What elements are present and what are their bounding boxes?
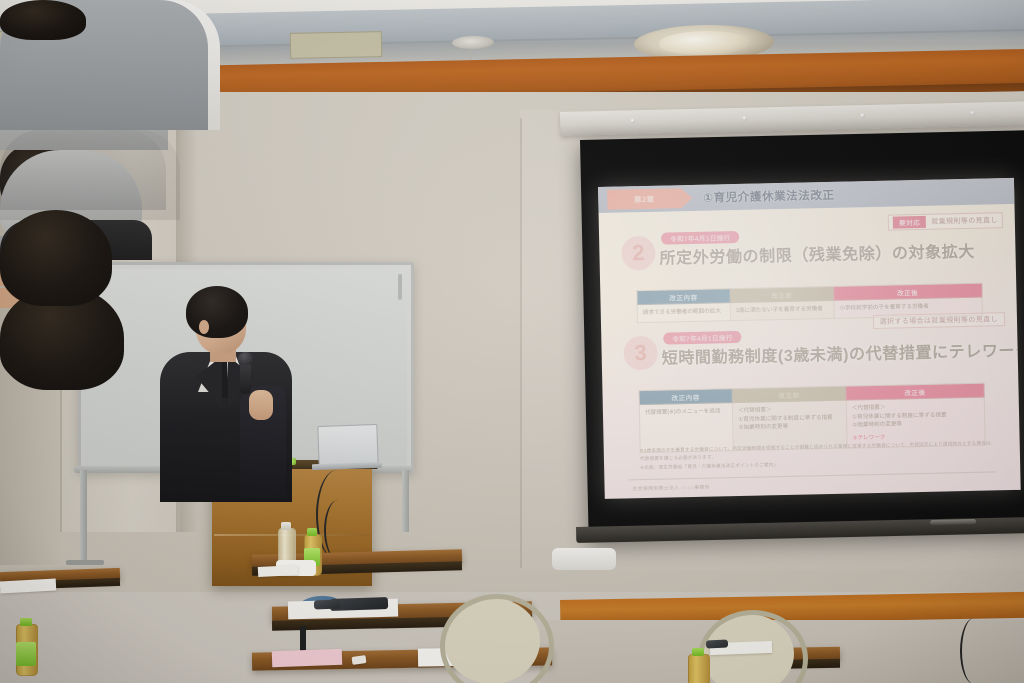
bottle-cap: [281, 522, 291, 530]
wall-cable: [960, 618, 988, 683]
attendee-partial: [0, 0, 86, 40]
attendee-shoulder: [0, 130, 166, 210]
smartphone: [314, 600, 340, 610]
handout-paper: [258, 565, 298, 577]
bottle-cap: [20, 618, 32, 626]
section-number-badge: 3: [623, 336, 658, 371]
power-cable: [324, 500, 352, 560]
attendee-hair: [0, 0, 86, 40]
smartphone: [706, 639, 728, 648]
slide-section-2: 要対応 就業規則等の見直し 2 令和7年4月1日施行 所定外労働の制限（残業免除…: [599, 210, 1016, 279]
whiteboard-leg-right: [402, 470, 409, 532]
slide-section-3: 選択する場合は就業規則等の見直し 3 令和7年4月1日施行 短時間勤務制度(3歳…: [601, 310, 1018, 379]
presenter-hand: [249, 390, 273, 420]
tea-bottle: [688, 654, 710, 683]
attendee-collar: [552, 548, 616, 570]
whiteboard-marker-holder: [398, 274, 402, 300]
section-number-badge: 2: [621, 236, 656, 271]
microphone-icon: [238, 352, 253, 365]
seminar-room-photo: 第2章 ①育児介護休業法法改正 要対応 就業規則等の見直し 2 令和7年4月1日…: [0, 0, 1024, 683]
slide-footer: 社会保険労務士法人 ○○○○事務所: [633, 484, 710, 493]
slide-title: ①育児介護休業法法改正: [703, 187, 835, 206]
attendee-grey-sweater: [0, 0, 208, 306]
projection-screen-handle[interactable]: [930, 519, 976, 525]
chair-frame: [440, 594, 554, 683]
attendee-hair: [0, 210, 112, 306]
slide-section-3-head: 3 令和7年4月1日施行 短時間勤務制度(3歳未満)の代替措置にテレワーク追加: [601, 324, 1018, 379]
whiteboard-foot: [66, 560, 104, 565]
bottle-cap: [307, 528, 317, 536]
pink-handout: [272, 649, 343, 667]
whiteboard-leg-left: [80, 470, 87, 562]
ceiling-vent: [290, 31, 383, 59]
slide-footer-rule: [628, 471, 996, 480]
cell-after-text: ＜代替措置＞ ①育児休業に関する制度に準ずる措置 ②始業時刻の変更等: [852, 405, 947, 429]
bottle-label: [16, 642, 36, 666]
wall-seam: [520, 118, 522, 568]
slide-chapter-tag: 第2章: [607, 188, 681, 210]
slide-section-2-head: 2 令和7年4月1日施行 所定外労働の制限（残業免除）の対象拡大: [599, 224, 1016, 279]
bottle-cap: [692, 648, 704, 656]
projected-slide: 第2章 ①育児介護休業法法改正 要対応 就業規則等の見直し 2 令和7年4月1日…: [598, 178, 1021, 499]
